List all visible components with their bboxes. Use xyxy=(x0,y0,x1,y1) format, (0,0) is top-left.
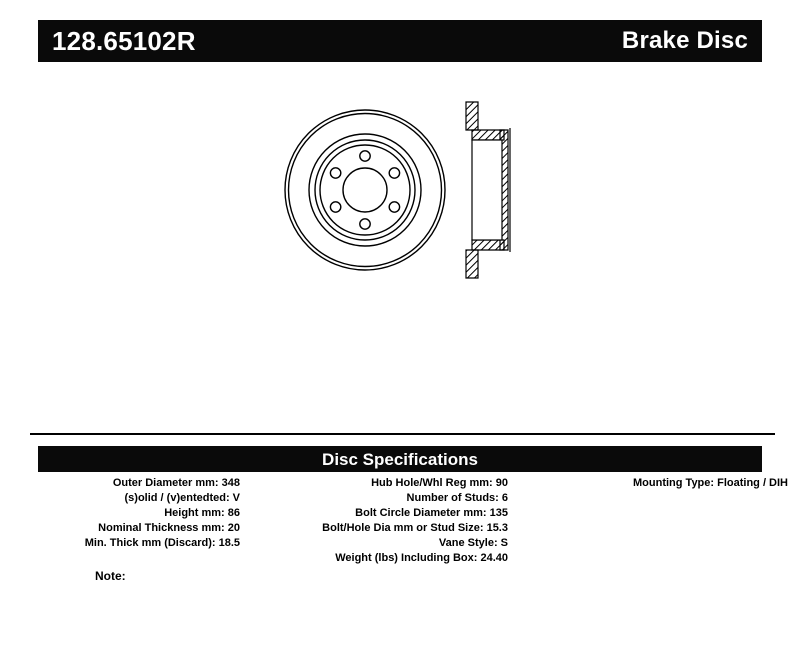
spec-columns: Outer Diameter mm: 348 (s)olid / (v)ente… xyxy=(0,476,800,566)
brake-disc-drawing-svg xyxy=(0,80,800,410)
spec-row: Min. Thick mm (Discard): 18.5 xyxy=(0,536,240,551)
rotor-friction-band-inner-circle xyxy=(315,140,415,240)
spec-column-left: Outer Diameter mm: 348 (s)olid / (v)ente… xyxy=(0,476,252,566)
product-spec-sheet: 128.65102R Brake Disc xyxy=(0,0,800,655)
spec-title-bar: Disc Specifications xyxy=(38,446,762,472)
cross-section-bottom-wall xyxy=(472,240,504,250)
spec-row: Vane Style: S xyxy=(252,536,508,551)
stud-hole xyxy=(389,168,399,178)
spec-column-middle: Hub Hole/Whl Reg mm: 90 Number of Studs:… xyxy=(252,476,520,566)
rotor-front-view xyxy=(285,110,445,270)
header-bar: 128.65102R Brake Disc xyxy=(38,20,762,62)
cross-section-lower-flange xyxy=(466,250,478,278)
stud-hole xyxy=(389,202,399,212)
stud-hole xyxy=(360,151,370,161)
spec-row: Bolt Circle Diameter mm: 135 xyxy=(252,506,508,521)
rotor-stud-holes xyxy=(330,151,399,229)
note-label: Note: xyxy=(95,569,126,583)
cross-section-upper-flange xyxy=(466,102,478,130)
rotor-hat-outer-circle xyxy=(320,145,410,235)
section-divider xyxy=(30,433,775,435)
stud-hole xyxy=(360,219,370,229)
spec-row: Outer Diameter mm: 348 xyxy=(0,476,240,491)
spec-column-right: Mounting Type: Floating / DIH xyxy=(520,476,800,566)
rotor-hub-hole-circle xyxy=(343,168,387,212)
spec-row: (s)olid / (v)entedted: V xyxy=(0,491,240,506)
spec-title: Disc Specifications xyxy=(322,451,478,468)
stud-hole xyxy=(330,168,340,178)
cross-section-top-wall xyxy=(472,130,504,140)
product-type: Brake Disc xyxy=(622,29,748,53)
spec-row: Mounting Type: Floating / DIH xyxy=(520,476,788,491)
technical-drawing xyxy=(0,80,800,410)
spec-row: Bolt/Hole Dia mm or Stud Size: 15.3 xyxy=(252,521,508,536)
spec-row: Height mm: 86 xyxy=(0,506,240,521)
note-block: Note: xyxy=(95,568,135,584)
spec-row: Number of Studs: 6 xyxy=(252,491,508,506)
spec-row: Nominal Thickness mm: 20 xyxy=(0,521,240,536)
spec-row: Hub Hole/Whl Reg mm: 90 xyxy=(252,476,508,491)
spec-row: Weight (lbs) Including Box: 24.40 xyxy=(252,551,508,566)
rotor-cross-section-view xyxy=(466,102,510,278)
stud-hole xyxy=(330,202,340,212)
cross-section-vent-cavity xyxy=(472,140,502,240)
part-number: 128.65102R xyxy=(52,28,196,54)
rotor-outer-rim-circle xyxy=(289,114,442,267)
